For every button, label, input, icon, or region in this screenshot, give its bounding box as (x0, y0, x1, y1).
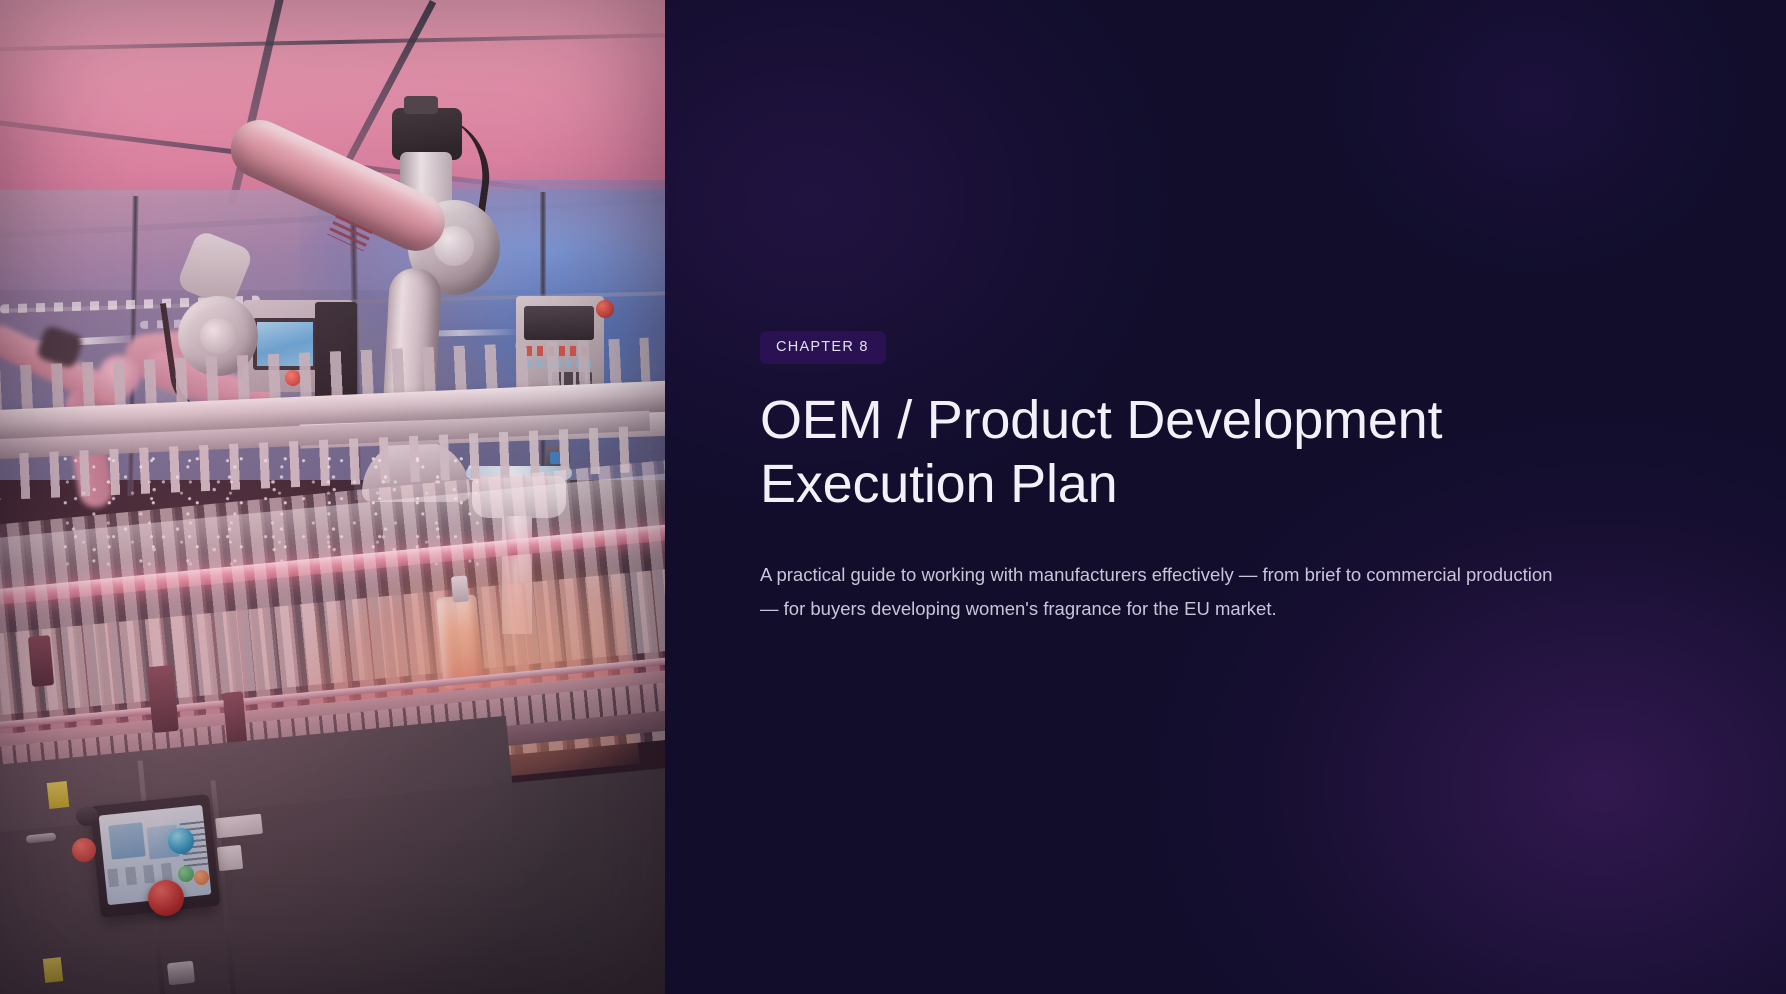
machine-panel-icon (524, 306, 594, 340)
bottle-neck-icon (451, 575, 469, 602)
stop-button-icon (72, 838, 96, 862)
page-title: OEM / Product Development Execution Plan (760, 388, 1620, 517)
conveyor-clamp-icon (28, 635, 54, 687)
machine-nameplate-icon (217, 845, 243, 871)
chapter-badge: CHAPTER 8 (760, 331, 886, 364)
robot-tool-head-icon (404, 96, 438, 114)
background-glow (1326, 0, 1746, 280)
selector-switch-icon (76, 806, 98, 826)
hero-photo (0, 0, 665, 994)
warning-label-icon (47, 781, 70, 809)
title-content-panel: CHAPTER 8 OEM / Product Development Exec… (665, 0, 1786, 994)
chapter-title-slide: CHAPTER 8 OEM / Product Development Exec… (0, 0, 1786, 994)
page-subtitle: A practical guide to working with manufa… (760, 558, 1560, 626)
title-block: CHAPTER 8 OEM / Product Development Exec… (760, 331, 1620, 626)
emergency-stop-button-icon (148, 880, 184, 916)
machine-button-icon (596, 300, 614, 318)
photo-stage (0, 0, 665, 994)
hmi-tile-icon (108, 822, 145, 859)
machine-latch-icon (167, 961, 195, 986)
warning-label-icon (43, 957, 63, 983)
start-button-icon (168, 828, 194, 854)
